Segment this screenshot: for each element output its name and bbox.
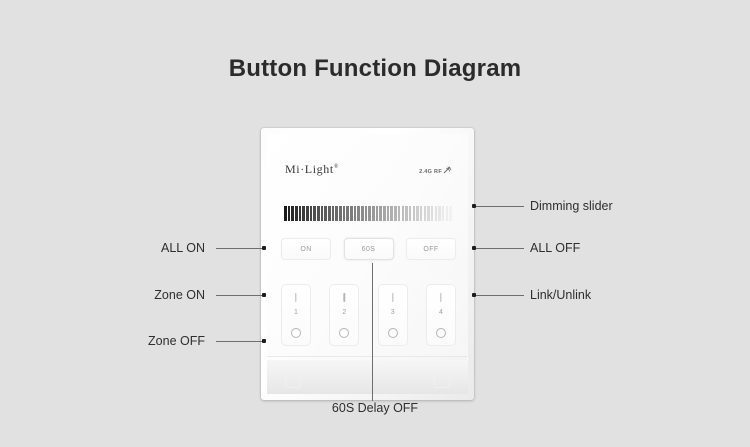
slider-segment (446, 206, 449, 221)
all-off-button[interactable]: OFF (406, 238, 456, 260)
slider-segment (302, 206, 305, 221)
slider-segment (339, 206, 342, 221)
slider-segment (420, 206, 423, 221)
slider-segment (328, 206, 331, 221)
slider-segment (376, 206, 379, 221)
slider-segment (449, 206, 452, 221)
annotation-60s-delay-off: 60S Delay OFF (0, 401, 750, 415)
panel-face: Mi·Light® 2.4G RF ON 60S (267, 134, 468, 357)
brand-name: Mi·Light (285, 162, 334, 176)
zone-on-icon[interactable] (440, 293, 441, 302)
signal-arc-icon (443, 166, 452, 174)
slider-segment (435, 206, 438, 221)
leader-line-60s-delay-off (372, 263, 373, 401)
leader-line-all-off (476, 248, 524, 249)
zone-number-label: 4 (426, 309, 456, 316)
mounting-mark-right (434, 375, 450, 388)
slider-segment (398, 206, 401, 221)
zone-button-4[interactable]: 4 (426, 284, 456, 346)
page-title: Button Function Diagram (0, 55, 750, 83)
slider-segment (350, 206, 353, 221)
slider-segment (379, 206, 382, 221)
slider-segment (284, 206, 287, 221)
delay-off-button-label: 60S (362, 246, 376, 253)
zone-button-2[interactable]: 2 (329, 284, 359, 346)
slider-segment (394, 206, 397, 221)
leader-line-zone-on (216, 295, 262, 296)
annotation-zone-off: Zone OFF (100, 334, 205, 348)
slider-segment (313, 206, 316, 221)
zone-off-icon[interactable] (436, 328, 446, 338)
all-on-button[interactable]: ON (281, 238, 331, 260)
brand-logo: Mi·Light® (285, 162, 339, 177)
panel-inner-frame: Mi·Light® 2.4G RF ON 60S (267, 134, 468, 394)
slider-segment (361, 206, 364, 221)
leader-line-link-unlink (476, 295, 524, 296)
zone-off-icon[interactable] (291, 328, 301, 338)
zone-button-row: 1 2 3 4 (281, 284, 456, 346)
slider-segment (416, 206, 419, 221)
slider-segment (383, 206, 386, 221)
slider-segment (321, 206, 324, 221)
registered-mark: ® (334, 164, 339, 170)
slider-segment (299, 206, 302, 221)
zone-button-3[interactable]: 3 (378, 284, 408, 346)
rf-label: 2.4G RF (419, 169, 442, 175)
slider-segment (413, 206, 416, 221)
slider-segment (295, 206, 298, 221)
delay-off-button[interactable]: 60S (344, 238, 394, 260)
slider-segment (431, 206, 434, 221)
leader-dot-zone-on (262, 293, 266, 297)
slider-segment (354, 206, 357, 221)
annotation-zone-on: Zone ON (100, 288, 205, 302)
all-off-button-label: OFF (423, 246, 438, 253)
slider-segment (438, 206, 441, 221)
device-panel: Mi·Light® 2.4G RF ON 60S (261, 128, 474, 400)
slider-segment (424, 206, 427, 221)
leader-dot-all-on (262, 246, 266, 250)
slider-segment (427, 206, 430, 221)
zone-off-icon[interactable] (388, 328, 398, 338)
leader-line-all-on (216, 248, 262, 249)
slider-segment (405, 206, 408, 221)
zone-number-label: 1 (281, 309, 311, 316)
slider-segment (310, 206, 313, 221)
annotation-all-off: ALL OFF (530, 241, 580, 255)
annotation-all-on: ALL ON (100, 241, 205, 255)
slider-segment (387, 206, 390, 221)
slider-segment (335, 206, 338, 221)
top-button-row: ON 60S OFF (281, 238, 456, 260)
slider-segment (306, 206, 309, 221)
slider-segment (288, 206, 291, 221)
slider-segment (324, 206, 327, 221)
leader-line-zone-off (216, 341, 262, 342)
annotation-dimming-slider: Dimming slider (530, 199, 613, 213)
slider-segment (372, 206, 375, 221)
leader-dot-zone-off (262, 339, 266, 343)
zone-number-label: 2 (329, 309, 359, 316)
zone-number-label: 3 (378, 309, 408, 316)
slider-segment (357, 206, 360, 221)
annotation-link-unlink: Link/Unlink (530, 288, 591, 302)
slider-segment (346, 206, 349, 221)
rf-badge: 2.4G RF (419, 166, 452, 175)
slider-segment (409, 206, 412, 221)
leader-line-dimming-slider (476, 206, 524, 207)
zone-on-icon[interactable] (392, 293, 393, 302)
dimming-slider[interactable] (284, 206, 452, 221)
slider-segment (390, 206, 393, 221)
slider-segment (317, 206, 320, 221)
slider-segment (332, 206, 335, 221)
zone-on-icon[interactable] (295, 293, 296, 302)
slider-segment (368, 206, 371, 221)
slider-segment (365, 206, 368, 221)
zone-button-1[interactable]: 1 (281, 284, 311, 346)
zone-on-icon[interactable] (344, 293, 345, 302)
zone-off-icon[interactable] (339, 328, 349, 338)
mounting-mark-left (285, 375, 301, 388)
slider-segment (291, 206, 294, 221)
slider-segment (402, 206, 405, 221)
all-on-button-label: ON (300, 246, 311, 253)
slider-segment (442, 206, 445, 221)
panel-base (267, 360, 468, 394)
slider-segment (343, 206, 346, 221)
